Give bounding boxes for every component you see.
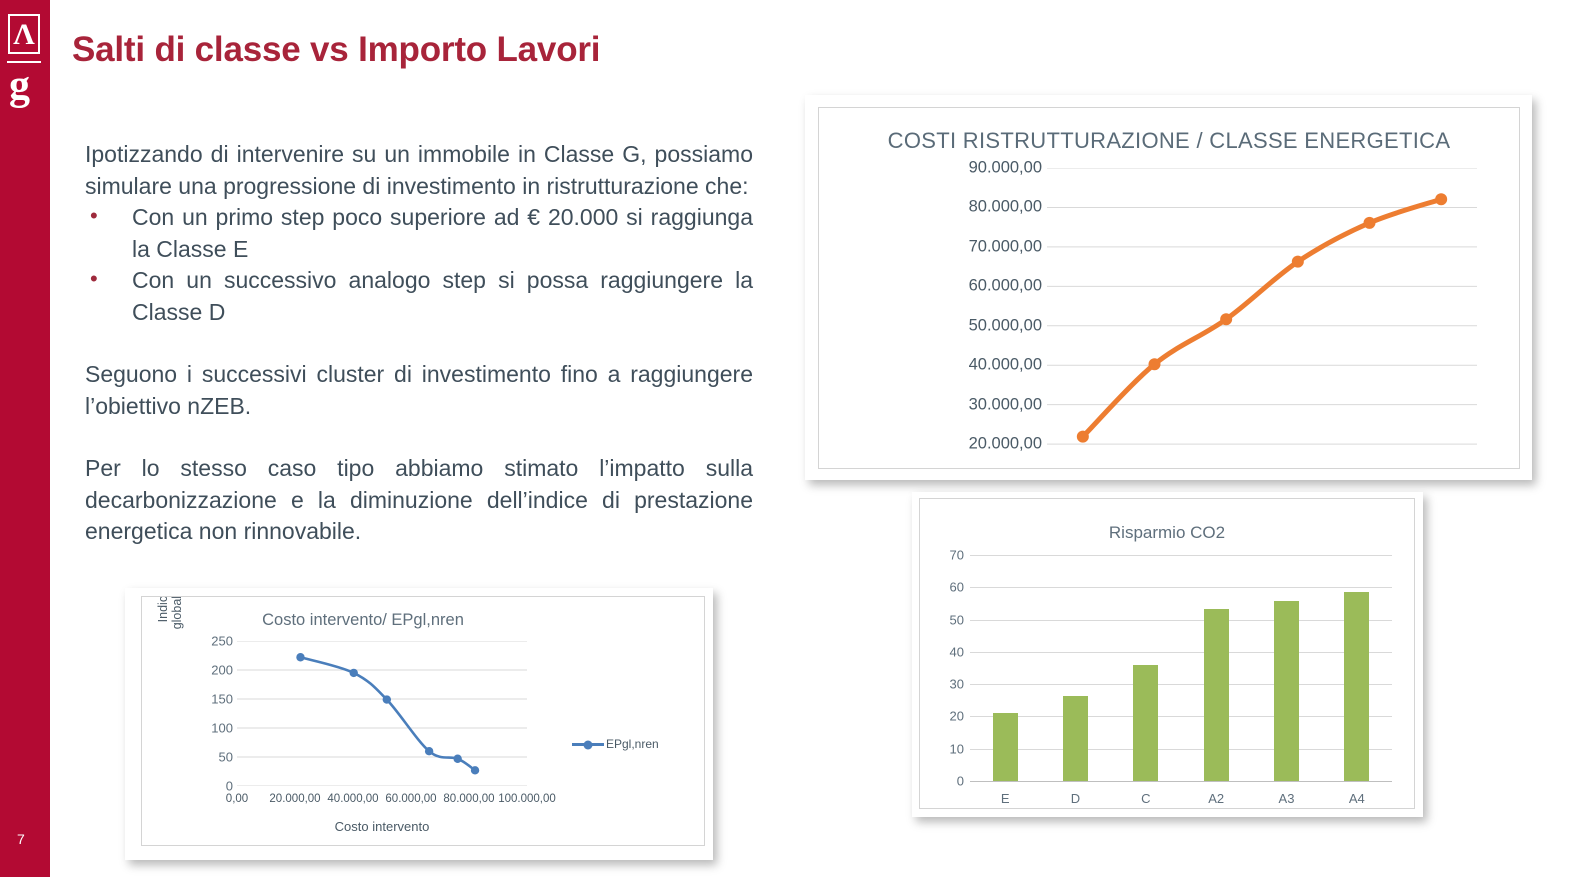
y-axis-tick-label: 100 bbox=[211, 721, 233, 736]
bullet-item: Con un successivo analogo step si possa … bbox=[85, 265, 753, 328]
y-axis-labels: 90.000,0080.000,0070.000,0060.000,0050.0… bbox=[877, 168, 1042, 469]
y-axis-labels: 250200150100500 bbox=[197, 641, 233, 786]
y-axis-labels: 706050403020100 bbox=[920, 555, 964, 781]
y-axis-tick-label: 20 bbox=[950, 709, 964, 724]
gridline bbox=[970, 716, 1392, 717]
chart-title: Costo intervento/ EPgl,nren bbox=[162, 611, 564, 630]
gridline bbox=[970, 620, 1392, 621]
y-axis-tick-label: 50.000,00 bbox=[969, 316, 1042, 335]
line-series-svg bbox=[1047, 168, 1477, 469]
axis-baseline bbox=[970, 781, 1392, 782]
bar bbox=[1133, 665, 1158, 781]
bar bbox=[1063, 696, 1088, 781]
bullet-list: Con un primo step poco superiore ad € 20… bbox=[85, 202, 753, 328]
y-axis-tick-label: 70 bbox=[950, 548, 964, 563]
company-logo: Λ g bbox=[8, 14, 42, 107]
y-axis-title-line2: globale non rinnovabile bbox=[170, 596, 194, 635]
y-axis-tick-label: 60.000,00 bbox=[969, 277, 1042, 296]
x-axis-tick-label: 100.000,00 bbox=[498, 793, 556, 805]
x-axis-category-label: E bbox=[1001, 791, 1010, 806]
x-axis-tick-label: 80.000,00 bbox=[443, 793, 494, 805]
chart-plot-frame: COSTI RISTRUTTURAZIONE / CLASSE ENERGETI… bbox=[818, 107, 1520, 469]
y-axis-tick-label: 200 bbox=[211, 663, 233, 678]
chart-legend: EPgl,nren bbox=[572, 737, 659, 751]
page-title: Salti di classe vs Importo Lavori bbox=[72, 30, 600, 70]
spacer bbox=[85, 328, 753, 359]
y-axis-tick-label: 30 bbox=[950, 677, 964, 692]
x-axis-category-label: A3 bbox=[1279, 791, 1295, 806]
paragraph-decarbonizzazione: Per lo stesso caso tipo abbiamo stimato … bbox=[85, 453, 753, 548]
paragraph-nzeb: Seguono i successivi cluster di investim… bbox=[85, 359, 753, 422]
bar bbox=[993, 713, 1018, 781]
page-number: 7 bbox=[17, 831, 25, 847]
y-axis-tick-label: 150 bbox=[211, 692, 233, 707]
y-axis-tick-label: 30.000,00 bbox=[969, 395, 1042, 414]
chart-plot-frame: Risparmio CO2 706050403020100 EDCA2A3A4 bbox=[919, 498, 1415, 809]
chart-card-costo-intervento-epgl: Costo intervento/ EPgl,nren Indice di pr… bbox=[125, 588, 713, 860]
y-axis-tick-label: 20.000,00 bbox=[969, 435, 1042, 454]
y-axis-tick-label: 40.000,00 bbox=[969, 356, 1042, 375]
bar bbox=[1274, 601, 1299, 781]
gridline bbox=[970, 555, 1392, 556]
bar bbox=[1204, 609, 1229, 781]
legend-series-name: EPgl,nren bbox=[606, 737, 659, 751]
paragraph-intro: Ipotizzando di intervenire su un immobil… bbox=[85, 139, 753, 202]
logo-lambda-glyph: Λ bbox=[13, 21, 35, 49]
plot-area bbox=[1047, 168, 1477, 469]
bar bbox=[1344, 592, 1369, 781]
logo-g-glyph: g bbox=[9, 65, 42, 107]
x-axis-tick-label: 0,00 bbox=[226, 793, 248, 805]
gridline bbox=[970, 652, 1392, 653]
y-axis-tick-label: 90.000,00 bbox=[969, 159, 1042, 178]
y-axis-tick-label: 40 bbox=[950, 644, 964, 659]
x-axis-tick-label: 20.000,00 bbox=[269, 793, 320, 805]
x-axis-category-label: C bbox=[1141, 791, 1150, 806]
y-axis-tick-label: 80.000,00 bbox=[969, 198, 1042, 217]
body-text-block: Ipotizzando di intervenire su un immobil… bbox=[85, 139, 753, 548]
y-axis-tick-label: 10 bbox=[950, 741, 964, 756]
chart-card-risparmio-co2: Risparmio CO2 706050403020100 EDCA2A3A4 bbox=[912, 492, 1423, 817]
logo-lambda-mark-icon: Λ bbox=[8, 14, 40, 54]
line-series-svg bbox=[237, 641, 527, 786]
x-axis-category-label: A2 bbox=[1208, 791, 1224, 806]
gridline bbox=[970, 587, 1392, 588]
bullet-item: Con un primo step poco superiore ad € 20… bbox=[85, 202, 753, 265]
y-axis-tick-label: 60 bbox=[950, 580, 964, 595]
y-axis-tick-label: 0 bbox=[226, 779, 233, 794]
x-axis-title: Costo intervento bbox=[237, 819, 527, 834]
chart-card-costi-ristrutturazione: COSTI RISTRUTTURAZIONE / CLASSE ENERGETI… bbox=[805, 95, 1532, 480]
gridline bbox=[970, 684, 1392, 685]
spacer bbox=[85, 422, 753, 453]
chart-title: Risparmio CO2 bbox=[920, 523, 1414, 543]
y-axis-tick-label: 250 bbox=[211, 634, 233, 649]
plot-area: EDCA2A3A4 bbox=[970, 555, 1392, 781]
chart-plot-frame: Costo intervento/ EPgl,nren Indice di pr… bbox=[141, 596, 705, 846]
y-axis-tick-label: 50 bbox=[950, 612, 964, 627]
plot-area bbox=[237, 641, 527, 786]
y-axis-tick-label: 0 bbox=[957, 774, 964, 789]
x-axis-category-label: A4 bbox=[1349, 791, 1365, 806]
y-axis-tick-label: 70.000,00 bbox=[969, 237, 1042, 256]
left-brand-rail: Λ g 7 bbox=[0, 0, 50, 877]
gridline bbox=[970, 749, 1392, 750]
x-axis-tick-label: 60.000,00 bbox=[385, 793, 436, 805]
chart-title: COSTI RISTRUTTURAZIONE / CLASSE ENERGETI… bbox=[819, 128, 1519, 154]
x-axis-category-label: D bbox=[1071, 791, 1080, 806]
y-axis-tick-label: 50 bbox=[219, 750, 233, 765]
line-marker-icon bbox=[572, 743, 604, 746]
x-axis-labels: 0,0020.000,0040.000,0060.000,0080.000,00… bbox=[202, 793, 562, 813]
x-axis-tick-label: 40.000,00 bbox=[327, 793, 378, 805]
